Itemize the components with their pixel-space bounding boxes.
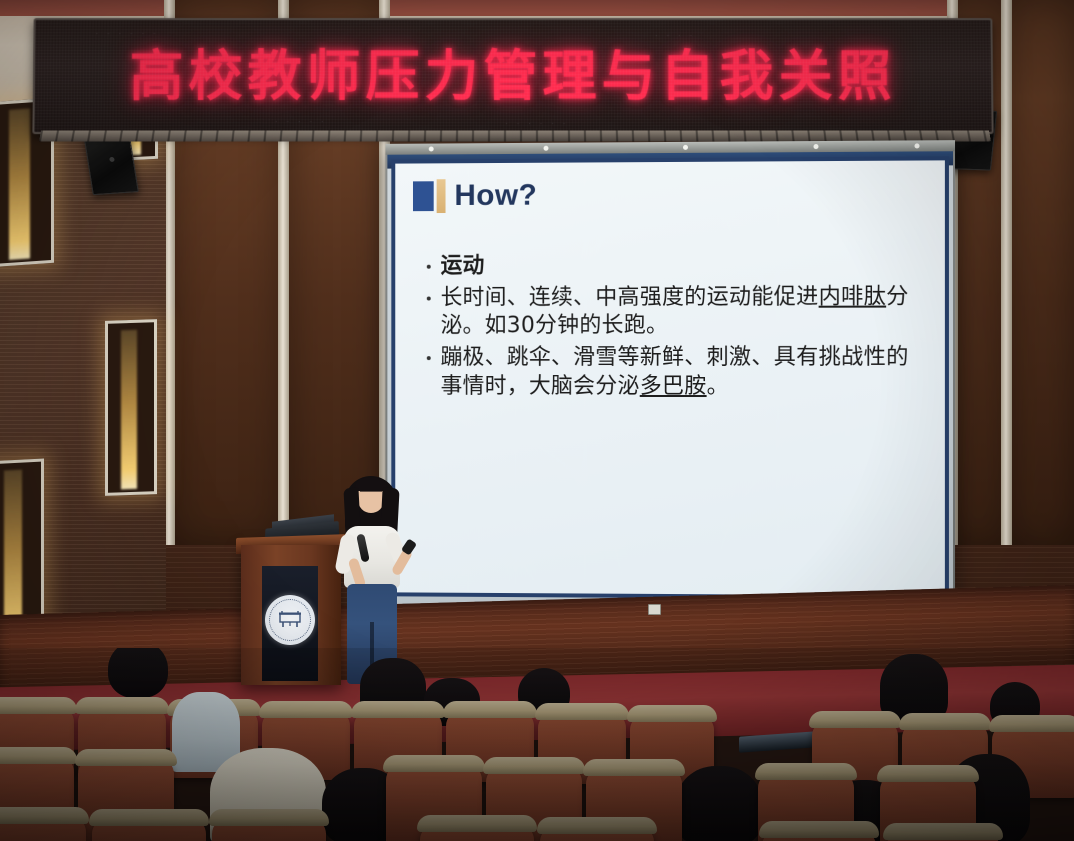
slide-bullet-text: 运动 bbox=[441, 253, 485, 281]
rail-clip bbox=[914, 143, 919, 148]
slide-bullet-text: 长时间、连续、中高强度的运动能促进内啡肽分泌。如30分钟的长跑。 bbox=[441, 283, 927, 340]
rail-clip bbox=[429, 146, 434, 151]
attendee-head bbox=[108, 648, 168, 698]
slide-accent-bar-icon bbox=[437, 179, 446, 213]
university-emblem-icon bbox=[265, 595, 315, 645]
seat bbox=[886, 832, 1000, 841]
seat bbox=[540, 826, 654, 841]
rail-clip bbox=[683, 145, 688, 150]
audience-seating bbox=[0, 648, 1074, 841]
led-banner: · · · · · · · · · · · · · · · · · · · · … bbox=[32, 18, 993, 134]
bullet-dot-icon bbox=[427, 357, 431, 361]
seat bbox=[762, 830, 876, 841]
rail-clip bbox=[544, 146, 549, 151]
led-ghost-row: · · · · · bbox=[275, 116, 327, 126]
slide-title: How? bbox=[454, 181, 537, 211]
projection-screen: How? 运动 长时间、连续、中高强度的运动能促进内啡肽分泌。如30分钟的长跑。… bbox=[385, 140, 955, 614]
attendee-head bbox=[676, 766, 762, 841]
lecture-hall-photo: · · · · · · · · · · · · · · · · · · · · … bbox=[0, 0, 1074, 841]
slide-bullet: 长时间、连续、中高强度的运动能促进内啡肽分泌。如30分钟的长跑。 bbox=[427, 283, 927, 340]
slide-body: 运动 长时间、连续、中高强度的运动能促进内啡肽分泌。如30分钟的长跑。 蹦极、跳… bbox=[413, 251, 927, 401]
wall-divider-strip bbox=[1001, 0, 1012, 545]
slide-title-row: How? bbox=[413, 177, 927, 214]
wall-panel bbox=[1012, 0, 1074, 545]
ding-vessel-icon bbox=[278, 611, 302, 628]
slide-bullet: 运动 bbox=[427, 251, 927, 281]
glasses-icon bbox=[360, 491, 382, 496]
seat bbox=[212, 818, 326, 841]
bullet-dot-icon bbox=[427, 265, 431, 269]
wall-niche-light bbox=[105, 319, 157, 496]
slide-bullet-text: 蹦极、跳伞、滑雪等新鲜、刺激、具有挑战性的事情时，大脑会分泌多巴胺。 bbox=[441, 344, 927, 401]
power-outlet-icon bbox=[648, 604, 661, 615]
seat bbox=[92, 818, 206, 841]
slide-canvas: How? 运动 长时间、连续、中高强度的运动能促进内啡肽分泌。如30分钟的长跑。… bbox=[391, 156, 949, 599]
rail-clip bbox=[813, 144, 818, 149]
led-banner-text: 高校教师压力管理与自我关照 bbox=[35, 32, 992, 111]
led-ghost-row: · · · · · · bbox=[505, 118, 569, 128]
ceiling-red-trim bbox=[0, 0, 1074, 16]
bullet-dot-icon bbox=[427, 297, 431, 301]
seat bbox=[0, 816, 86, 841]
slide-accent-square-icon bbox=[413, 181, 434, 211]
slide-bullet: 蹦极、跳伞、滑雪等新鲜、刺激、具有挑战性的事情时，大脑会分泌多巴胺。 bbox=[427, 344, 927, 401]
seat bbox=[420, 824, 534, 841]
